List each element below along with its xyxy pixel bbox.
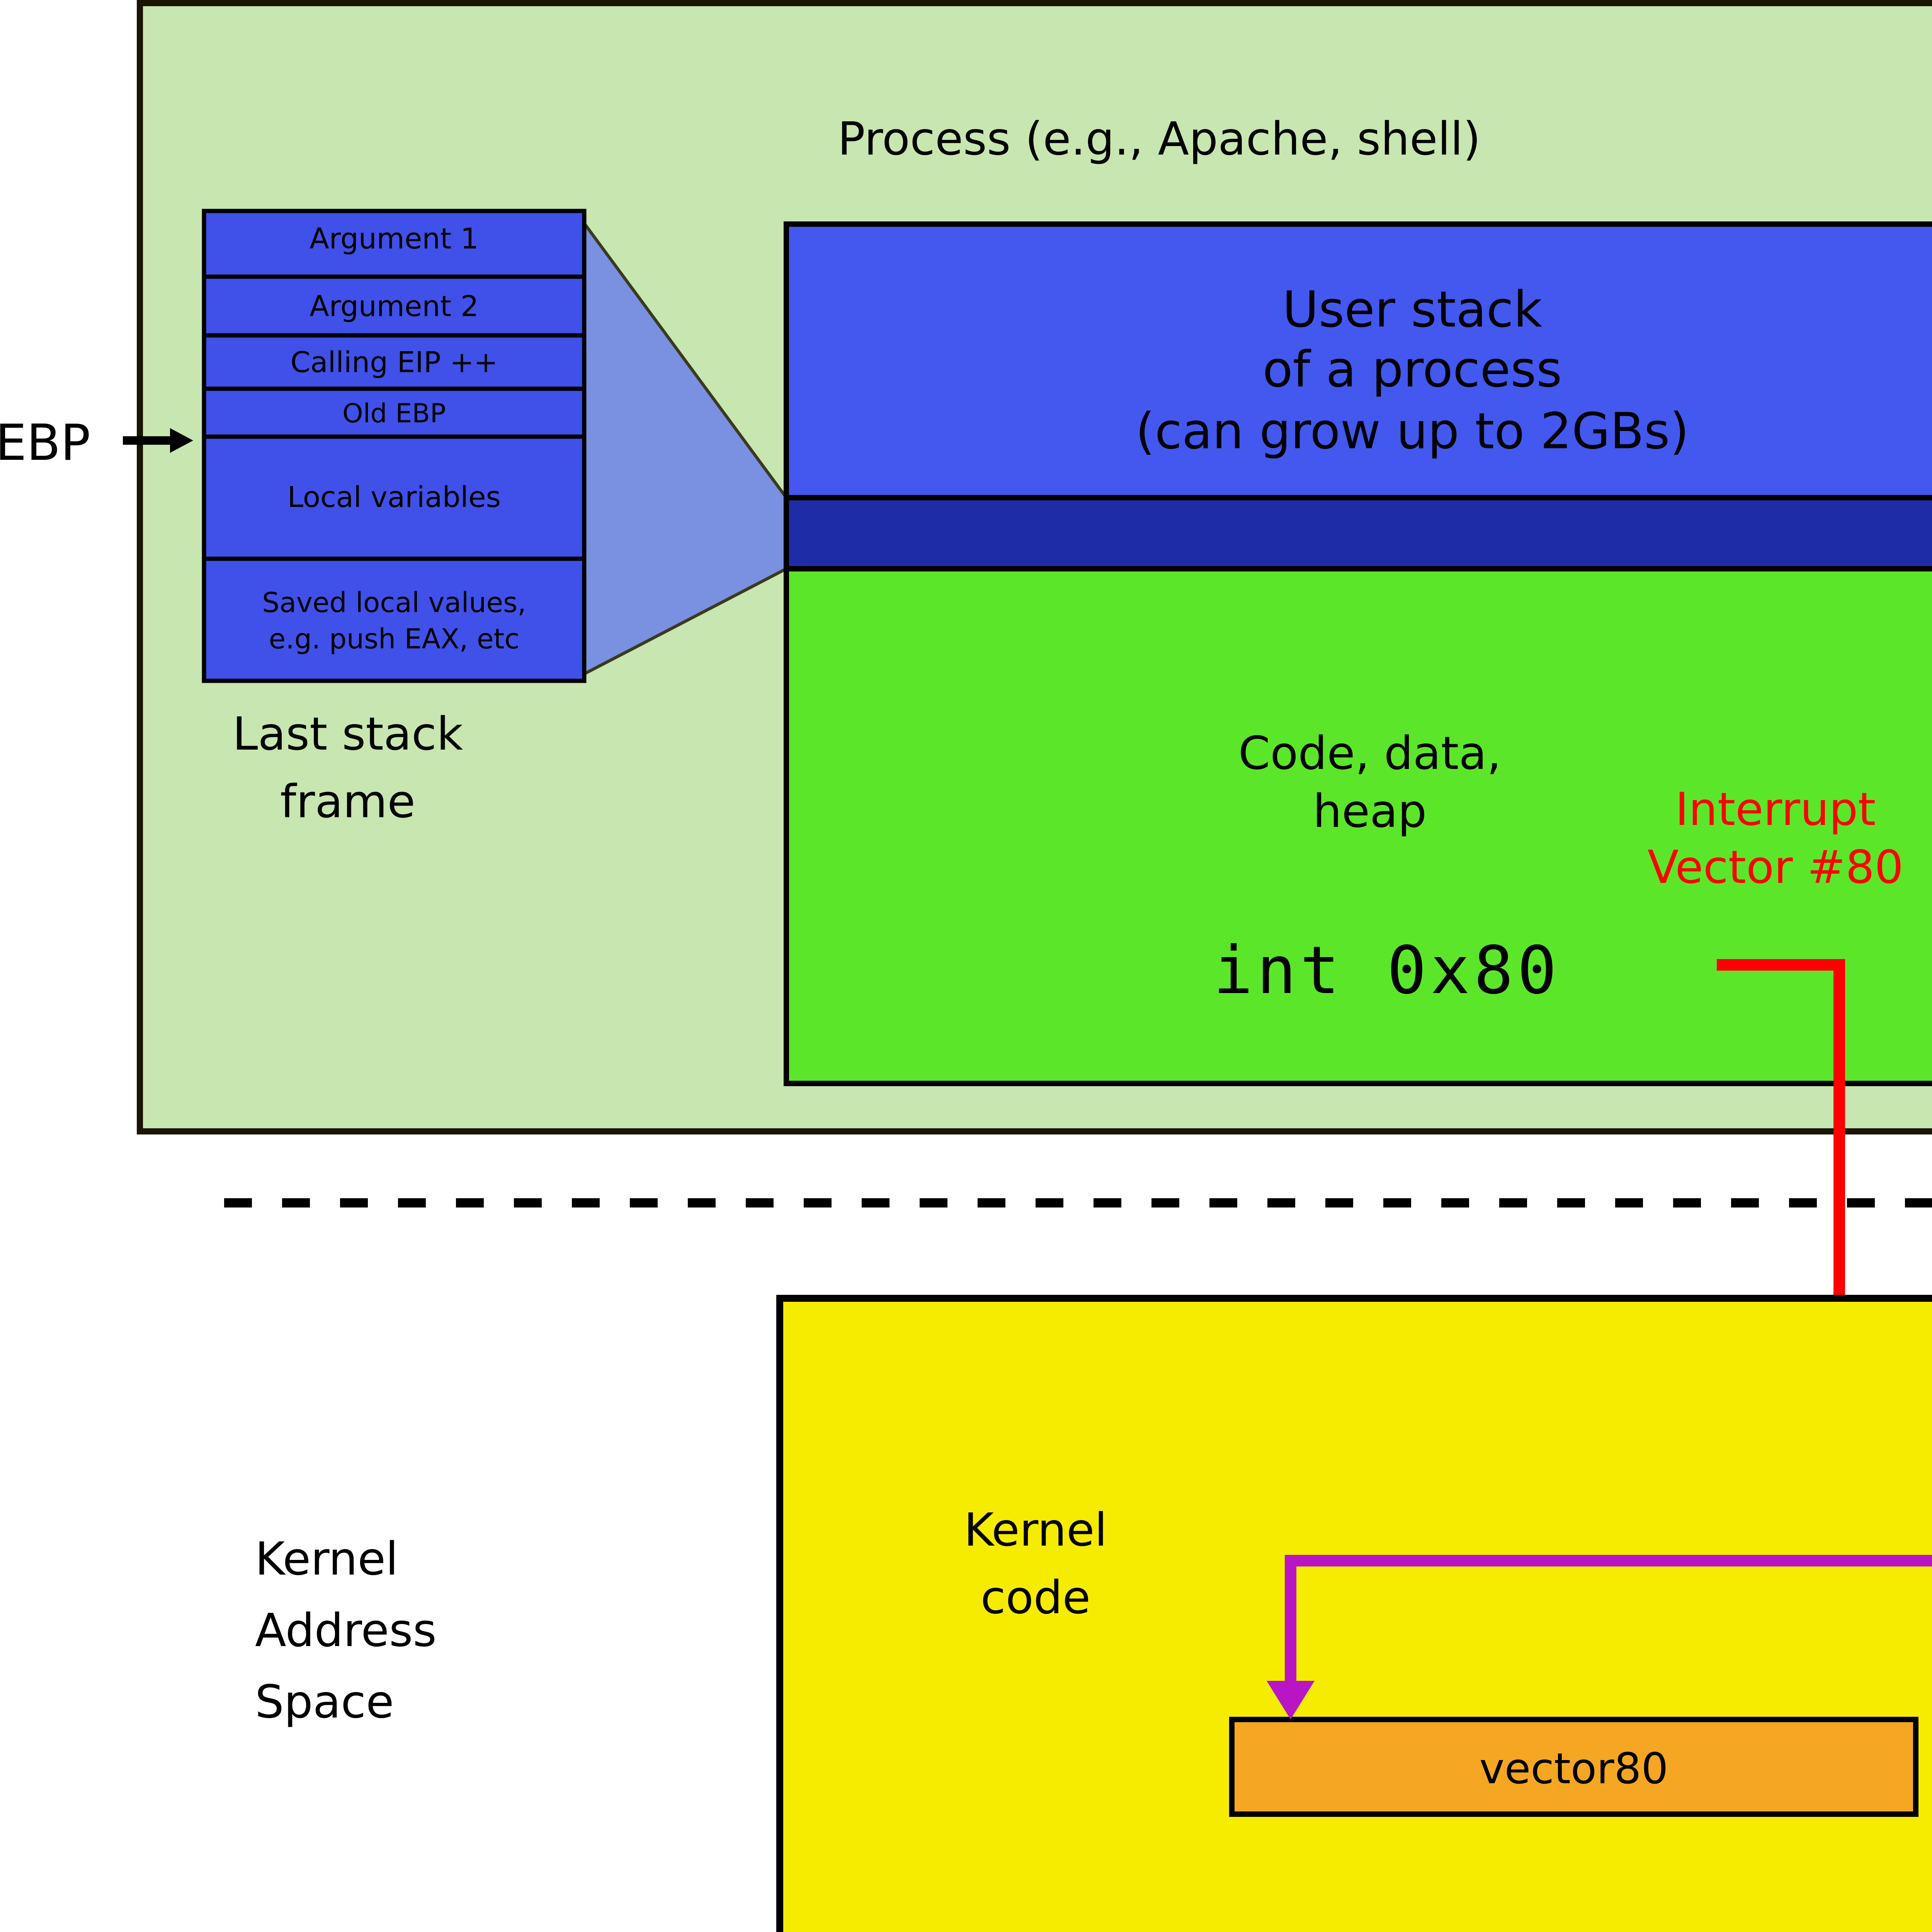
user-stack-label-line-1: User stack	[1282, 281, 1542, 338]
kernel-code-box	[780, 1298, 1932, 1932]
ebp-register-label: EBP	[0, 414, 90, 472]
stack-row-label-saved-values-line-1: Saved local values,	[262, 587, 526, 619]
stack-row-label-argument-1: Argument 1	[310, 222, 479, 255]
kernel-address-space-label-line-2: Address	[255, 1604, 437, 1657]
stack-row-label-calling-eip: Calling EIP ++	[291, 346, 498, 379]
kernel-address-space-label-line-3: Space	[255, 1675, 394, 1728]
last-stack-frame-table: Argument 1 Argument 2 Calling EIP ++ Old…	[204, 211, 584, 681]
kernel-code-label-line-2: code	[981, 1571, 1091, 1624]
stack-frame-row	[204, 559, 584, 681]
kernel-code-label-line-1: Kernel	[964, 1503, 1107, 1556]
user-stack-label-line-3: (can grow up to 2GBs)	[1136, 403, 1689, 460]
kernel-address-space-label-line-1: Kernel	[255, 1532, 398, 1585]
stack-row-label-local-variables: Local variables	[287, 481, 501, 514]
interrupt-vector-annotation-line-1: Interrupt	[1675, 782, 1876, 836]
process-heading: Process (e.g., Apache, shell)	[838, 112, 1481, 165]
stack-row-label-argument-2: Argument 2	[310, 290, 479, 323]
system-call-diagram: Process (e.g., Apache, shell) Process Ad…	[0, 0, 1932, 1932]
vector80-handler-label: vector80	[1480, 1744, 1668, 1793]
interrupt-vector-annotation-line-2: Vector #80	[1648, 840, 1904, 894]
code-data-heap-label-line-1: Code, data,	[1238, 726, 1501, 780]
user-stack-label-line-2: of a process	[1262, 341, 1562, 398]
stack-row-label-old-ebp: Old EBP	[342, 398, 446, 429]
stack-row-label-saved-values-line-2: e.g. push EAX, etc	[269, 623, 520, 655]
last-stack-frame-caption-line-1: Last stack	[233, 707, 463, 760]
user-stack-gap-band	[786, 498, 1932, 569]
syscall-instruction-text: int 0x80	[1213, 932, 1561, 1009]
last-stack-frame-caption-line-2: frame	[280, 775, 415, 828]
code-data-heap-label-line-2: heap	[1313, 784, 1427, 838]
